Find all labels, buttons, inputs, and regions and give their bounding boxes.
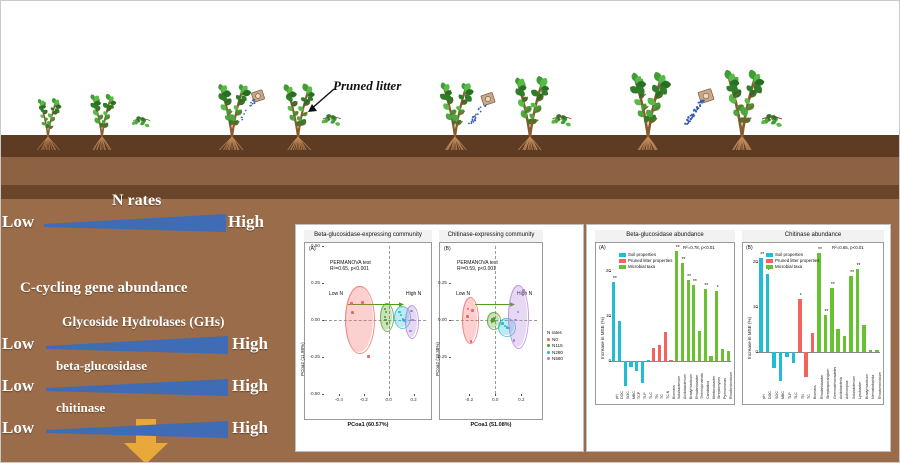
pcoa-legend: N ratesN0N115N280N560 — [547, 330, 563, 363]
bar-r2-annotation-0: R²=0.78, p<0.01 — [683, 245, 715, 250]
pcoa-ytick-1-1: 0.00 — [427, 317, 447, 322]
pcoa-legend-title: N rates — [547, 330, 563, 335]
pruned-litter-pointer — [300, 84, 370, 124]
bar-xcat-0-10: Biomass — [672, 385, 676, 399]
bar-xcat-1-10: Streptosporangium — [826, 369, 830, 399]
bar-xcat-0-9: TC:N — [666, 391, 670, 399]
bar-title-0: Beta-glucosidase abundance — [595, 232, 735, 238]
bar-1-DOC — [766, 274, 770, 352]
bar-1-TC — [804, 352, 808, 377]
beta-glucosidase-low-label: Low — [2, 376, 34, 396]
bar-legend-item[interactable]: Microbial taxa — [619, 264, 672, 270]
pcoa-ytickmark-0-3 — [322, 357, 324, 358]
bar-0-Thermoproteota — [698, 331, 701, 361]
bar-significance-0-14: ** — [691, 280, 698, 285]
bar-1-Nematodophila — [869, 350, 873, 352]
pcoa-legend-item-N560[interactable]: N560 — [547, 356, 563, 361]
bar-xcat-0-20: Rhodomicrobium — [729, 372, 733, 399]
pcoa-xtick-0-0: -0.4 — [333, 397, 345, 402]
bar-1-Rhodomicrobium — [875, 350, 879, 352]
legend-swatch — [766, 259, 773, 263]
pcoa-card: Beta-glucosidase-expressing community(A)… — [295, 224, 584, 452]
bar-xcat-1-5: TLC — [794, 392, 798, 399]
bar-1-pH — [759, 258, 763, 353]
bar-xcat-0-18: Streptomyces — [717, 377, 721, 399]
bar-xcat-0-7: TN — [655, 394, 659, 399]
pcoa-xtickmark-1-0 — [469, 394, 470, 396]
n-rates-title: N rates — [112, 192, 161, 210]
bar-xcat-1-12: Acidobacteria — [839, 377, 843, 399]
bar-xcat-0-2: SOC — [626, 391, 630, 399]
pcoa-ytickmark-0-0 — [322, 246, 324, 247]
bar-panel-letter-1: (B) — [746, 245, 753, 251]
bar-0-SOC — [624, 361, 627, 386]
ghs-wedge — [46, 334, 228, 356]
pcoa-xtickmark-1-2 — [521, 394, 522, 396]
bar-xcat-0-6: TLC — [649, 392, 653, 399]
bar-significance-0-18: * — [714, 286, 721, 291]
bar-1-Gemmatimonadetes — [830, 288, 834, 352]
bar-0-TLP — [641, 361, 644, 383]
bar-1-Bradyrhizobium — [862, 325, 866, 352]
bar-0-Bradyrhizobium — [687, 280, 690, 361]
plant-illustration — [0, 0, 900, 150]
chitinase-low-label: Low — [2, 418, 34, 438]
n-rates-high-label: High — [228, 212, 264, 232]
bar-xcat-0-12: Acidobacterium — [683, 374, 687, 399]
bar-xcat-0-3: MBC — [632, 391, 636, 399]
pcoa-xtick-1-0: -0.2 — [463, 397, 475, 402]
bar-xcat-1-7: TC — [807, 394, 811, 399]
bar-ytickmark-1-1 — [756, 307, 758, 308]
bar-xcat-1-6: TN — [801, 394, 805, 399]
pcoa-xtick-1-2: 0.2 — [515, 397, 527, 402]
bar-card: Beta-glucosidase abundance(A)R²=0.78, p<… — [586, 224, 891, 452]
bar-xcat-1-18: Rhodomicrobium — [878, 372, 882, 399]
bar-xcat-1-16: Bradyrhizobium — [865, 374, 869, 399]
bar-xcat-1-17: Nematodophila — [871, 375, 875, 399]
bar-legend-0: Soil propertiesPruned litter propertiesM… — [619, 252, 672, 270]
bar-0-Rhodomicrobium — [727, 351, 730, 361]
bar-1-TN — [798, 299, 802, 352]
bar-xcat-0-8: TC — [660, 394, 664, 399]
pcoa-xtick-0-3: 0.2 — [408, 397, 420, 402]
pcoa-permanova-line2-1: R²=0.59, p<0.001 — [457, 266, 496, 272]
pcoa-legend-item-N280[interactable]: N280 — [547, 350, 563, 355]
bar-0-Rhodanobacter — [692, 285, 695, 361]
pcoa-xtick-0-1: -0.2 — [358, 397, 370, 402]
bar-ytickmark-0-2 — [609, 271, 611, 272]
chitinase-title: chitinase — [56, 400, 105, 416]
legend-swatch — [766, 253, 773, 257]
c-cycling-title: C-cycling gene abundance — [20, 280, 188, 297]
bar-significance-0-13: ** — [686, 275, 693, 280]
pcoa-low-n-label-0: Low N — [329, 291, 343, 297]
beta-glucosidase-title: beta-glucosidase — [56, 358, 147, 374]
pcoa-point-1-N560-0 — [522, 289, 525, 292]
pcoa-xtick-1-1: 0.0 — [489, 397, 501, 402]
pcoa-ytick-0-0: 0.50 — [292, 243, 320, 248]
bar-significance-1-0: ** — [758, 253, 766, 258]
bar-panel-letter-0: (A) — [599, 245, 606, 251]
pcoa-xtickmark-0-1 — [364, 394, 365, 396]
pcoa-point-0-N0-2 — [361, 301, 364, 304]
pcoa-xtick-0-2: 0.0 — [383, 397, 395, 402]
bar-significance-0-12: ** — [680, 258, 687, 263]
pcoa-xlabel-0: PCoa1 (60.57%) — [304, 422, 432, 428]
pcoa-ytick-0-1: 0.25 — [292, 280, 320, 285]
bar-legend-1: Soil propertiesPruned litter propertiesM… — [766, 252, 819, 270]
pcoa-point-0-N115-3 — [386, 322, 389, 325]
summary-panel: N rates Low High C-cycling gene abundanc… — [0, 188, 292, 463]
bar-significance-1-6: * — [797, 294, 805, 299]
bar-1-Biomass — [811, 333, 815, 352]
bar-significance-0-11: ** — [674, 246, 681, 251]
bar-1-Actinospica — [843, 336, 847, 352]
legend-swatch — [619, 265, 626, 269]
pcoa-ytickmark-1-1 — [449, 320, 451, 321]
bar-0-TCP — [635, 361, 638, 371]
bar-xcat-1-13: Actinospica — [845, 381, 849, 399]
pcoa-ytick-0-2: 0.00 — [292, 317, 320, 322]
bar-1-Acidobacteria — [836, 329, 840, 352]
beta-glucosidase-wedge — [46, 376, 228, 398]
figure-canvas: Pruned litter N rates Low High C-cycling… — [0, 0, 900, 463]
bar-0-TC — [658, 345, 661, 361]
bar-xcat-0-13: Bradyrhizobium — [689, 374, 693, 399]
bar-xcat-1-9: Rhodanobacter — [820, 374, 824, 399]
bar-significance-0-0: ** — [611, 277, 618, 282]
pcoa-legend-item-N0[interactable]: N0 — [547, 337, 563, 342]
bar-xcat-0-0: pH — [615, 394, 619, 399]
pcoa-point-0-N0-3 — [367, 355, 370, 358]
ghs-low-label: Low — [2, 334, 34, 354]
bar-0-Pyrinomonas — [721, 349, 724, 361]
bar-baseline-1 — [758, 352, 880, 353]
bar-xcat-0-15: Thermoproteota — [700, 373, 704, 399]
bar-xcat-1-14: Solubacterium — [852, 376, 856, 399]
bar-xcat-0-11: Solubacterium — [677, 376, 681, 399]
bar-0-MBC — [629, 361, 632, 367]
bar-0-Ktedonobacter — [709, 356, 712, 361]
pcoa-ytick-0-3: -0.25 — [292, 354, 320, 359]
bar-xcat-0-5: TLP — [643, 392, 647, 399]
bar-xcat-0-17: Ktedonobacter — [712, 376, 716, 399]
legend-swatch — [619, 259, 626, 263]
bar-1-TLC — [792, 352, 796, 363]
pcoa-point-1-N0-2 — [471, 309, 474, 312]
pcoa-ytickmark-0-4 — [322, 394, 324, 395]
bar-1-Lysobacter — [856, 269, 860, 352]
pcoa-ytickmark-1-2 — [449, 357, 451, 358]
pcoa-ytick-0-4: -0.50 — [292, 391, 320, 396]
bar-xcat-0-4: TCP — [637, 392, 641, 399]
bar-0-Solubacterium — [675, 251, 678, 361]
pcoa-permanova-line2-0: R²=0.65, p<0.001 — [330, 266, 369, 272]
bar-1-Streptosporangium — [824, 315, 828, 352]
pcoa-ylabel-0: PCoa2 (11.98%) — [300, 342, 305, 376]
pcoa-point-0-N560-1 — [411, 319, 414, 322]
bar-ytickmark-0-1 — [609, 316, 611, 317]
n-rates-low-label: Low — [2, 212, 34, 232]
bar-r2-annotation-1: R²=0.65, p<0.01 — [832, 245, 864, 250]
bar-title-1: Chitinase abundance — [742, 232, 884, 238]
bar-xcat-1-0: pH — [762, 394, 766, 399]
bar-0-Acidobacterium — [681, 263, 684, 361]
bar-significance-0-16: ** — [703, 284, 710, 289]
chitinase-wedge — [46, 418, 228, 440]
pcoa-legend-item-N115[interactable]: N115 — [547, 343, 563, 348]
pcoa-ellipse-border-0-N115 — [380, 303, 394, 332]
bar-1-MBC — [779, 352, 783, 381]
ghs-title: Glycoside Hydrolases (GHs) — [62, 314, 225, 330]
bar-0-Candidatus — [704, 289, 707, 361]
pcoa-high-n-label-0: High N — [406, 291, 421, 297]
bar-0-Biomass — [669, 360, 672, 361]
bar-xcat-1-8: Biomass — [813, 385, 817, 399]
n-rates-wedge — [44, 212, 226, 234]
pcoa-title-1: Chitinase-expressing community — [439, 232, 543, 238]
ghs-high-label: High — [232, 334, 268, 354]
legend-swatch-N115 — [547, 344, 550, 347]
pcoa-ylabel-1: PCoa2 (13.38%) — [435, 342, 440, 376]
pcoa-point-1-N0-1 — [466, 315, 469, 318]
bar-xcat-1-4: TLP — [788, 392, 792, 399]
chitinase-high-label: High — [232, 418, 268, 438]
bar-1-SOC — [772, 352, 776, 368]
bar-ytickmark-1-2 — [756, 262, 758, 263]
beta-glucosidase-high-label: High — [232, 376, 268, 396]
bar-0-TN — [652, 348, 655, 361]
bar-0-TC:N — [664, 332, 667, 361]
pcoa-ellipse-border-0-N0 — [345, 286, 374, 354]
bar-xcat-0-1: DOC — [620, 391, 624, 399]
bar-xcat-1-11: Gemmatimonadetes — [833, 367, 837, 399]
legend-swatch-N280 — [547, 351, 550, 354]
legend-swatch-N560 — [547, 357, 550, 360]
pcoa-panel-letter-1: (B) — [444, 246, 451, 252]
bar-significance-1-15: ** — [855, 264, 863, 269]
bar-1-Solubacterium — [849, 276, 853, 352]
bar-xcat-1-3: MBC — [781, 391, 785, 399]
bar-xcat-0-14: Rhodanobacter — [695, 374, 699, 399]
bar-xcat-0-16: Candidatus — [706, 381, 710, 399]
bar-legend-item[interactable]: Microbial taxa — [766, 264, 819, 270]
bar-significance-1-11: ** — [829, 283, 837, 288]
pcoa-xtickmark-1-1 — [495, 394, 496, 396]
pcoa-ytickmark-0-1 — [322, 283, 324, 284]
pcoa-ytickmark-1-0 — [449, 283, 451, 284]
pcoa-xlabel-1: PCoa1 (51.08%) — [439, 422, 543, 428]
soil-layer-2 — [0, 157, 900, 187]
legend-swatch — [766, 265, 773, 269]
pcoa-point-0-N0-0 — [350, 302, 353, 305]
bar-0-DOC — [618, 321, 621, 362]
bar-0-TLC — [647, 360, 650, 361]
bar-0-Streptomyces — [715, 291, 718, 361]
pcoa-title-0: Beta-glucosidase-expressing community — [304, 232, 432, 238]
pcoa-ytick-1-0: 0.25 — [427, 280, 447, 285]
bar-1-TLP — [785, 352, 789, 357]
bar-ylabel-0: Increase in MSE (%) — [600, 317, 605, 359]
bar-xcat-1-15: Lysobacter — [858, 382, 862, 399]
bar-0-pH — [612, 282, 615, 361]
pcoa-ytickmark-0-2 — [322, 320, 324, 321]
pcoa-xtickmark-0-3 — [414, 394, 415, 396]
legend-swatch-N0 — [547, 338, 550, 341]
pcoa-point-0-N280-0 — [398, 311, 401, 314]
bar-xcat-1-1: DOC — [768, 391, 772, 399]
pcoa-ellipse-border-1-N0 — [462, 297, 479, 344]
pcoa-point-0-N0-1 — [351, 311, 354, 314]
pcoa-ellipse-border-1-N560 — [508, 285, 529, 349]
pcoa-xtickmark-0-0 — [339, 394, 340, 396]
legend-swatch — [619, 253, 626, 257]
pcoa-xtickmark-0-2 — [389, 394, 390, 396]
bar-xcat-1-2: SOC — [775, 391, 779, 399]
bar-xcat-0-19: Pyrinomonas — [723, 378, 727, 399]
